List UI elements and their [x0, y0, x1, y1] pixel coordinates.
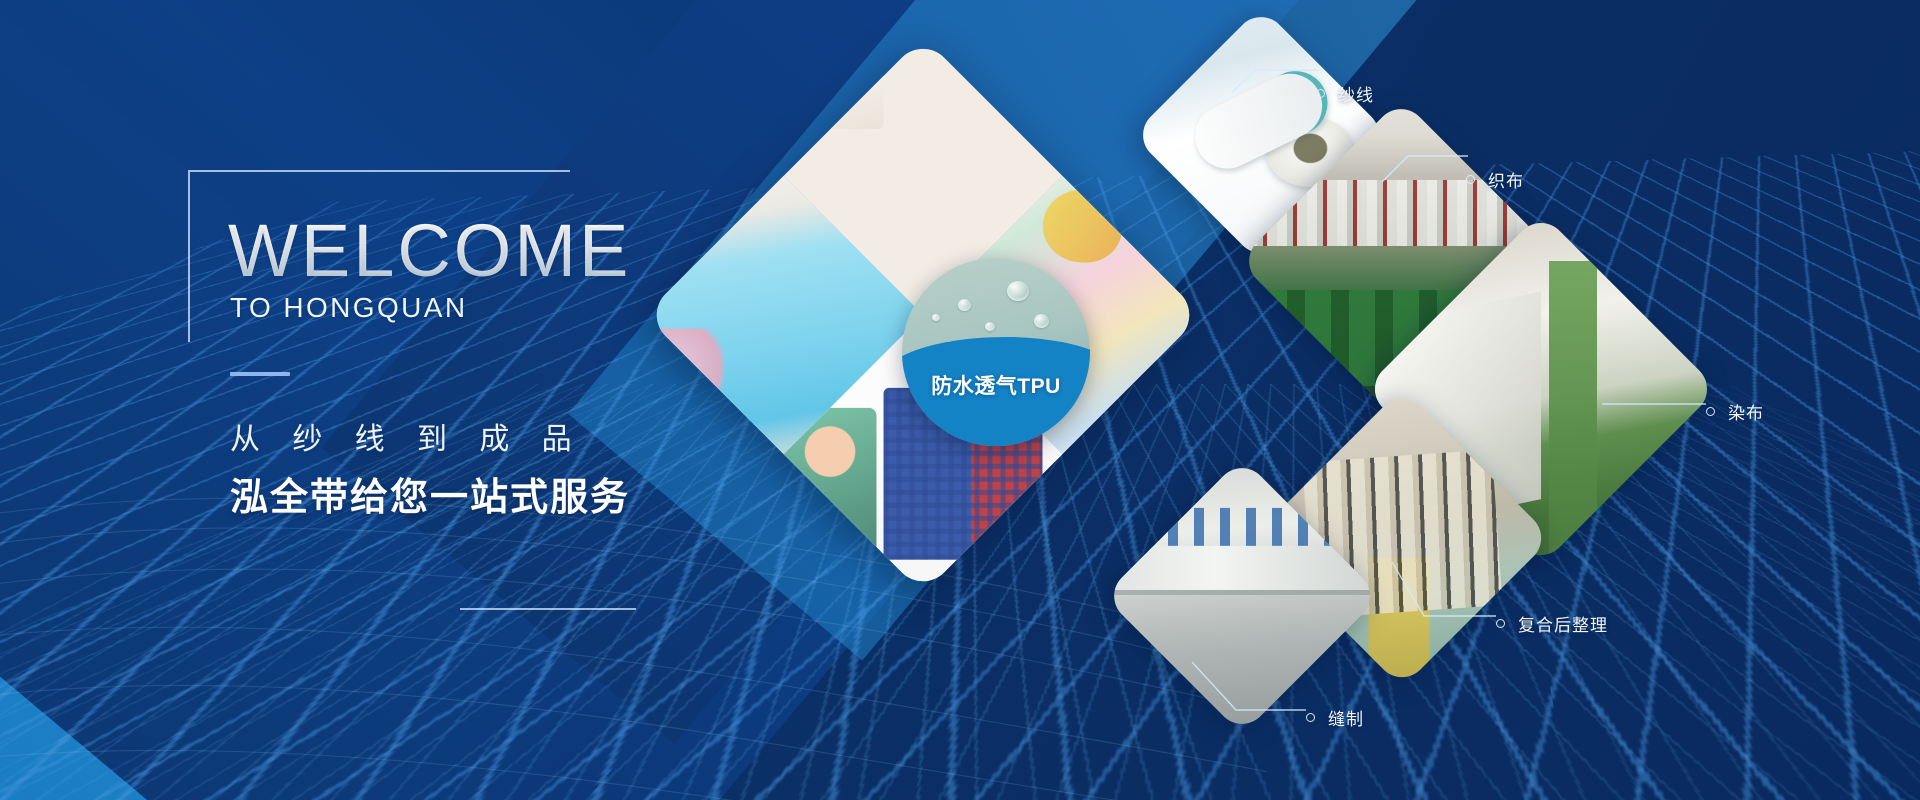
callout-dot-icon: [1466, 175, 1475, 184]
accent-rule: [230, 372, 290, 376]
callout-label-dyeing: 染布: [1728, 399, 1764, 424]
process-collage: 防水透气TPU: [700, 0, 1700, 800]
callout-dot-icon: [1306, 713, 1315, 722]
hero-banner: WELCOME TO HONGQUAN 从 纱 线 到 成 品 泓全带给您一站式…: [0, 0, 1920, 800]
callout-dot-icon: [1316, 89, 1325, 98]
callout-weaving[interactable]: 织布: [1466, 167, 1524, 192]
callout-finishing[interactable]: 复合后整理: [1496, 611, 1608, 636]
bottom-divider-rule: [460, 608, 636, 610]
callout-label-yarn: 纱线: [1338, 81, 1374, 106]
page-title: WELCOME: [228, 214, 631, 288]
badge-label: 防水透气TPU: [902, 370, 1090, 400]
callout-yarn[interactable]: 纱线: [1316, 81, 1374, 106]
callout-dot-icon: [1496, 619, 1505, 628]
callout-label-weaving: 织布: [1488, 167, 1524, 192]
callout-dot-icon: [1706, 407, 1715, 416]
slogan-chinese: 泓全带给您一站式服务: [230, 466, 630, 521]
tagline-chinese: 从 纱 线 到 成 品: [230, 414, 584, 458]
page-subtitle: TO HONGQUAN: [230, 292, 467, 324]
callout-label-sewing: 缝制: [1328, 705, 1364, 730]
tpu-feature-badge[interactable]: 防水透气TPU: [902, 258, 1090, 446]
callout-dyeing[interactable]: 染布: [1706, 399, 1764, 424]
callout-sewing[interactable]: 缝制: [1306, 705, 1364, 730]
callout-label-finishing: 复合后整理: [1518, 611, 1608, 636]
